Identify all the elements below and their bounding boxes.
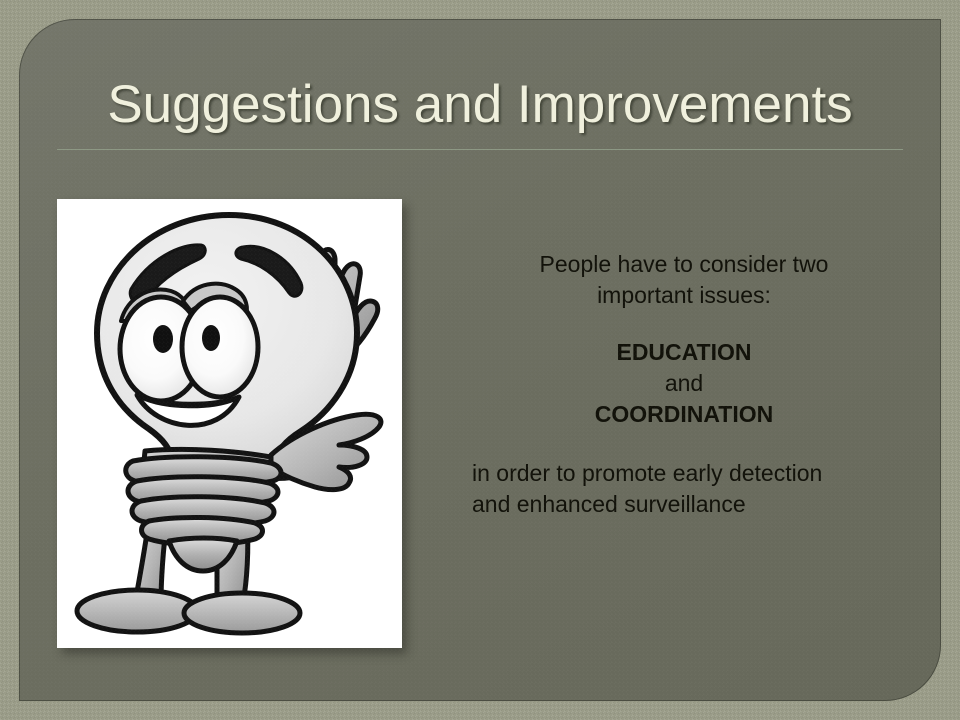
right-foot: [184, 593, 300, 633]
keyword-education: EDUCATION: [454, 337, 914, 368]
lightbulb-character-illustration: [57, 199, 402, 648]
slide: Suggestions and Improvements: [0, 0, 960, 720]
intro-line-1: People have to consider two: [454, 249, 914, 280]
lightbulb-character-image: [57, 199, 402, 648]
keyword-coordination: COORDINATION: [454, 399, 914, 430]
title-divider: [57, 149, 903, 150]
left-pupil: [153, 325, 173, 353]
right-pupil: [202, 325, 220, 351]
intro-line-2: important issues:: [454, 280, 914, 311]
closing-line-1: in order to promote early detection: [454, 458, 914, 489]
slide-content-panel: Suggestions and Improvements: [19, 19, 941, 701]
text-spacer-1: [454, 311, 914, 337]
closing-line-2: and enhanced surveillance: [454, 489, 914, 520]
conjunction-and: and: [454, 368, 914, 399]
text-spacer-2: [454, 430, 914, 458]
left-foot: [77, 590, 197, 632]
right-eye: [182, 297, 258, 397]
page-title: Suggestions and Improvements: [57, 74, 903, 136]
body-text-block: People have to consider two important is…: [454, 249, 914, 520]
